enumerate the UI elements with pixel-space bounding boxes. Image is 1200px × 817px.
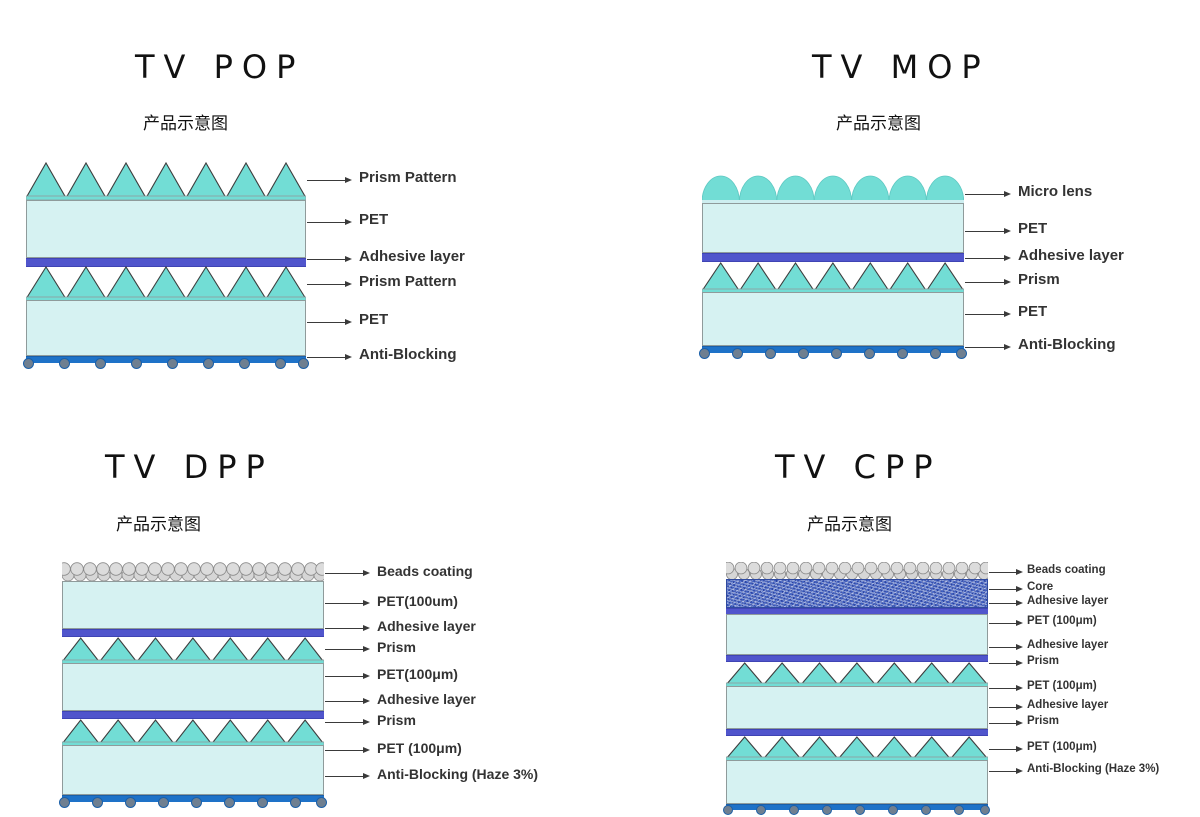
callout-label: PET <box>1018 220 1047 237</box>
layer-pet-upper <box>26 200 306 258</box>
callout-label: Prism <box>1018 271 1060 288</box>
callout-line <box>989 771 1016 772</box>
callout-arrow-icon <box>1016 586 1023 592</box>
panel-tv-dpp: TV DPP 产品示意图 <box>0 404 600 809</box>
callout-label: Core <box>1027 581 1053 593</box>
anti-block-bead <box>125 797 136 808</box>
anti-block-bead <box>831 348 842 359</box>
callout-label: PET (100μm) <box>1027 741 1097 753</box>
layer-micro-lens <box>702 172 964 204</box>
panel-subtitle-pop: 产品示意图 <box>143 109 228 134</box>
callout-label: PET (100μm) <box>1027 615 1097 627</box>
callout-arrow-icon <box>363 646 370 652</box>
callout-line <box>307 259 345 260</box>
panel-tv-cpp: TV CPP 产品示意图 <box>600 404 1200 809</box>
anti-block-bead <box>275 358 286 369</box>
callout-arrow-icon <box>1016 644 1023 650</box>
callout-arrow-icon <box>1016 620 1023 626</box>
panel-subtitle-dpp: 产品示意图 <box>116 510 201 535</box>
callout-line <box>307 322 345 323</box>
callout-arrow-icon <box>1016 685 1023 691</box>
anti-block-bead <box>921 805 931 815</box>
callout-arrow-icon <box>363 673 370 679</box>
callout-arrow-icon <box>1016 660 1023 666</box>
anti-block-bead <box>822 805 832 815</box>
anti-block-bead <box>92 797 103 808</box>
callout-line <box>325 676 363 677</box>
callout-arrow-icon <box>1016 768 1023 774</box>
callout-line <box>325 603 363 604</box>
callout-label: Adhesive layer <box>1018 247 1124 264</box>
callout-label: PET (100μm) <box>1027 680 1097 692</box>
layer-stack-pop <box>26 160 306 365</box>
anti-block-bead <box>290 797 301 808</box>
callout-arrow-icon <box>1016 720 1023 726</box>
callout-label: PET <box>1018 303 1047 320</box>
layer-pet-2 <box>726 686 988 729</box>
callout-arrow-icon <box>1016 704 1023 710</box>
anti-blocking-beads <box>726 803 988 817</box>
anti-block-bead <box>59 797 70 808</box>
anti-block-bead <box>158 797 169 808</box>
anti-block-bead <box>888 805 898 815</box>
callout-arrow-icon <box>363 719 370 725</box>
callout-line <box>989 707 1016 708</box>
callout-label: Anti-Blocking (Haze 3%) <box>1027 763 1159 775</box>
layer-prism-2 <box>62 718 324 746</box>
callout-arrow-icon <box>345 219 352 225</box>
callout-line <box>325 722 363 723</box>
anti-block-bead <box>930 348 941 359</box>
callout-arrow-icon <box>1016 569 1023 575</box>
callout-label: Adhesive layer <box>1027 639 1108 651</box>
callout-arrow-icon <box>345 177 352 183</box>
callout-line <box>989 749 1016 750</box>
anti-block-bead <box>897 348 908 359</box>
panel-title-cpp: TV CPP <box>775 448 942 486</box>
layer-prism-2 <box>726 735 988 761</box>
callout-line <box>965 231 1004 232</box>
anti-block-bead <box>23 358 34 369</box>
callout-line <box>989 647 1016 648</box>
callout-label: Prism Pattern <box>359 169 457 186</box>
callout-line <box>989 663 1016 664</box>
callout-label: PET(100μm) <box>377 666 458 682</box>
callout-arrow-icon <box>1004 344 1011 350</box>
anti-block-bead <box>765 348 776 359</box>
callout-label: Prism <box>1027 715 1059 727</box>
panel-subtitle-cpp: 产品示意图 <box>807 510 892 535</box>
panel-title-dpp: TV DPP <box>105 448 274 486</box>
callout-label: Adhesive layer <box>1027 595 1108 607</box>
callout-arrow-icon <box>1004 228 1011 234</box>
callout-line <box>989 603 1016 604</box>
anti-block-bead <box>316 797 327 808</box>
anti-block-bead <box>298 358 309 369</box>
anti-block-bead <box>203 358 214 369</box>
anti-block-bead <box>798 348 809 359</box>
callout-arrow-icon <box>1004 255 1011 261</box>
callout-label: Anti-Blocking (Haze 3%) <box>377 766 538 782</box>
callout-label: Prism Pattern <box>359 273 457 290</box>
layer-pet-lower <box>702 292 964 346</box>
layer-stack-cpp <box>726 562 988 790</box>
callout-label: Anti-Blocking <box>1018 336 1116 353</box>
panel-tv-pop: TV POP 产品示意图 <box>0 0 600 404</box>
callout-label: PET (100μm) <box>377 740 462 756</box>
layer-core <box>726 579 988 608</box>
callout-arrow-icon <box>363 570 370 576</box>
panel-title-pop: TV POP <box>135 48 304 86</box>
anti-block-bead <box>699 348 710 359</box>
callout-line <box>989 572 1016 573</box>
callout-line <box>325 776 363 777</box>
callout-line <box>307 357 345 358</box>
anti-block-bead <box>864 348 875 359</box>
callout-line <box>325 701 363 702</box>
anti-block-bead <box>855 805 865 815</box>
layer-pet-3 <box>62 745 324 795</box>
layer-pet-lower <box>26 300 306 356</box>
callout-arrow-icon <box>1016 600 1023 606</box>
callout-arrow-icon <box>345 354 352 360</box>
callout-label: Beads coating <box>1027 564 1106 576</box>
callout-line <box>989 688 1016 689</box>
layer-prism-pattern-mid <box>26 265 306 301</box>
callout-label: PET(100um) <box>377 593 458 609</box>
callout-label: Prism <box>377 639 416 655</box>
anti-block-bead <box>191 797 202 808</box>
callout-line <box>965 282 1004 283</box>
anti-block-bead <box>95 358 106 369</box>
callout-line <box>989 723 1016 724</box>
layer-beads-coating <box>62 562 324 582</box>
layer-prism-1 <box>726 661 988 687</box>
callout-line <box>307 284 345 285</box>
panel-tv-mop: TV MOP 产品示意图 <box>600 0 1200 404</box>
callout-arrow-icon <box>1004 279 1011 285</box>
anti-blocking-beads <box>62 795 324 809</box>
anti-block-bead <box>131 358 142 369</box>
callout-line <box>325 628 363 629</box>
callout-arrow-icon <box>345 319 352 325</box>
callout-label: Micro lens <box>1018 183 1092 200</box>
anti-block-bead <box>956 348 967 359</box>
layer-beads-coating <box>726 562 988 580</box>
callout-arrow-icon <box>363 600 370 606</box>
callout-line <box>965 314 1004 315</box>
layer-pet-1 <box>62 581 324 629</box>
callout-label: Anti-Blocking <box>359 346 457 363</box>
callout-label: Adhesive layer <box>377 618 476 634</box>
layer-pet-1 <box>726 614 988 655</box>
callout-label: PET <box>359 311 388 328</box>
anti-block-bead <box>732 348 743 359</box>
layer-pet-upper <box>702 203 964 253</box>
callout-line <box>325 750 363 751</box>
layer-prism-1 <box>62 636 324 664</box>
callout-label: Prism <box>1027 655 1059 667</box>
callout-line <box>965 258 1004 259</box>
callout-arrow-icon <box>345 281 352 287</box>
callout-line <box>325 649 363 650</box>
anti-block-bead <box>980 805 990 815</box>
callout-line <box>307 222 345 223</box>
anti-blocking-beads <box>702 346 964 360</box>
anti-block-bead <box>789 805 799 815</box>
callout-line <box>307 180 345 181</box>
layer-stack-dpp <box>62 562 324 788</box>
anti-block-bead <box>59 358 70 369</box>
callout-arrow-icon <box>363 773 370 779</box>
callout-arrow-icon <box>363 747 370 753</box>
anti-block-bead <box>723 805 733 815</box>
callout-label: Adhesive layer <box>1027 699 1108 711</box>
panel-subtitle-mop: 产品示意图 <box>836 109 921 134</box>
callout-arrow-icon <box>363 625 370 631</box>
anti-block-bead <box>224 797 235 808</box>
callout-label: Prism <box>377 712 416 728</box>
callout-arrow-icon <box>1004 191 1011 197</box>
anti-block-bead <box>239 358 250 369</box>
anti-block-bead <box>167 358 178 369</box>
layer-pet-3 <box>726 760 988 804</box>
layer-stack-mop <box>702 172 964 364</box>
anti-block-bead <box>756 805 766 815</box>
callout-label: Adhesive layer <box>359 248 465 265</box>
callout-line <box>325 573 363 574</box>
callout-line <box>965 347 1004 348</box>
layer-pet-2 <box>62 663 324 711</box>
layer-prism-pattern-top <box>26 160 306 200</box>
callout-label: Adhesive layer <box>377 691 476 707</box>
anti-blocking-beads <box>26 356 306 370</box>
anti-block-bead <box>257 797 268 808</box>
callout-line <box>989 623 1016 624</box>
callout-line <box>989 589 1016 590</box>
callout-line <box>965 194 1004 195</box>
panel-title-mop: TV MOP <box>812 48 990 86</box>
callout-arrow-icon <box>345 256 352 262</box>
layer-prism <box>702 261 964 293</box>
callout-arrow-icon <box>363 698 370 704</box>
callout-label: PET <box>359 211 388 228</box>
callout-arrow-icon <box>1016 746 1023 752</box>
anti-block-bead <box>954 805 964 815</box>
callout-arrow-icon <box>1004 311 1011 317</box>
callout-label: Beads coating <box>377 563 473 579</box>
